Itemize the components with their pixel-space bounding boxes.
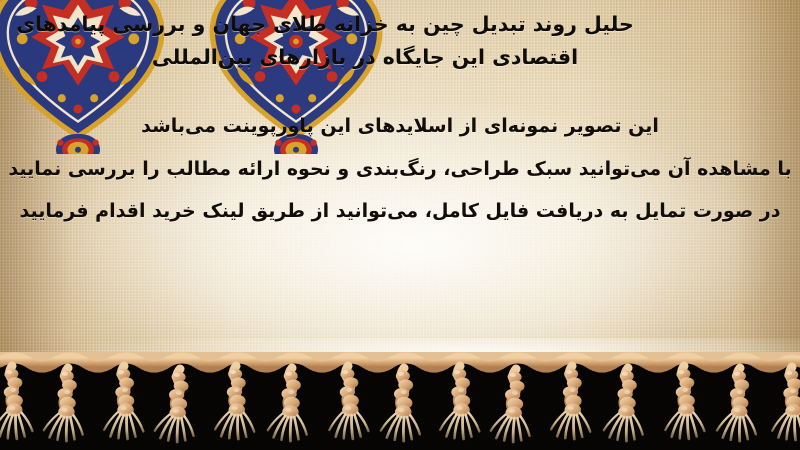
- title-line-2: اقتصادی این جایگاه در بازارهای بین‌الملل…: [0, 41, 730, 74]
- title-line-1: حلیل روند تبدیل چین به خزانه طلای جهان و…: [0, 8, 650, 41]
- slide-title: حلیل روند تبدیل چین به خزانه طلای جهان و…: [0, 8, 800, 74]
- presentation-slide: حلیل روند تبدیل چین به خزانه طلای جهان و…: [0, 0, 800, 450]
- fringe-icon: [0, 352, 800, 450]
- slide-body: این تصویر نمونه‌ای از اسلایدهای این پاور…: [0, 112, 800, 226]
- body-line-1: این تصویر نمونه‌ای از اسلایدهای این پاور…: [0, 112, 800, 141]
- body-line-3: در صورت تمایل به دریافت فایل کامل، می‌تو…: [0, 197, 800, 226]
- carpet-fringe-tassels: [0, 352, 800, 450]
- body-line-2: با مشاهده آن می‌توانید سبک طراحی، رنگ‌بن…: [0, 155, 800, 184]
- slide-text-layer: حلیل روند تبدیل چین به خزانه طلای جهان و…: [0, 0, 800, 384]
